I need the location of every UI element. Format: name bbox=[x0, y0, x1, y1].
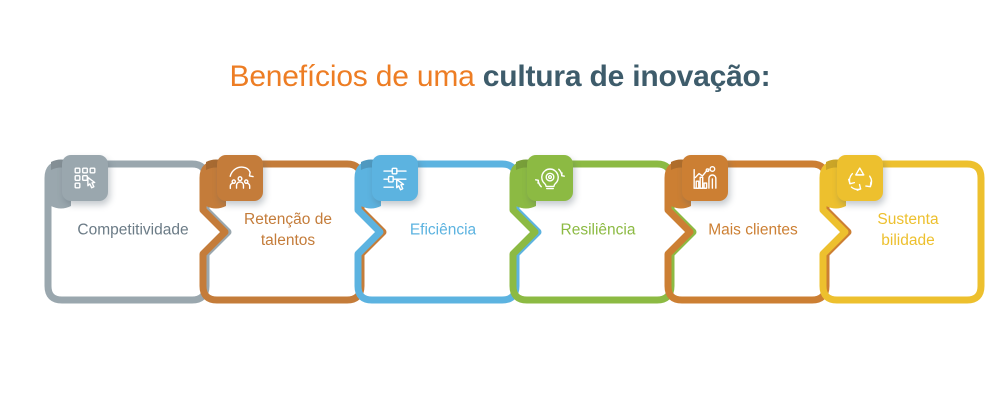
grid-click-icon bbox=[62, 155, 108, 201]
step-label: Mais clientes bbox=[678, 220, 828, 241]
step-label: Competitividade bbox=[58, 220, 208, 241]
step-label: Retenção de talentos bbox=[213, 209, 363, 251]
page-title-light: Benefícios de uma bbox=[230, 60, 483, 93]
benefits-flow: Competitividade Retenção de talentos Efi… bbox=[0, 150, 1000, 310]
step-label: Resiliência bbox=[523, 220, 673, 241]
recycle-icon bbox=[837, 155, 883, 201]
page-title: Benefícios de uma cultura de inovação: bbox=[0, 57, 1000, 97]
chart-people-icon bbox=[682, 155, 728, 201]
hand-protect-people-icon bbox=[217, 155, 263, 201]
flow-step-6[interactable]: Sustenta bilidade bbox=[815, 150, 1000, 310]
page-title-bold: cultura de inovação: bbox=[483, 60, 771, 93]
step-label: Sustenta bilidade bbox=[833, 209, 983, 251]
lightbulb-gear-icon bbox=[527, 155, 573, 201]
sliders-click-icon bbox=[372, 155, 418, 201]
step-label: Eficiência bbox=[368, 220, 518, 241]
